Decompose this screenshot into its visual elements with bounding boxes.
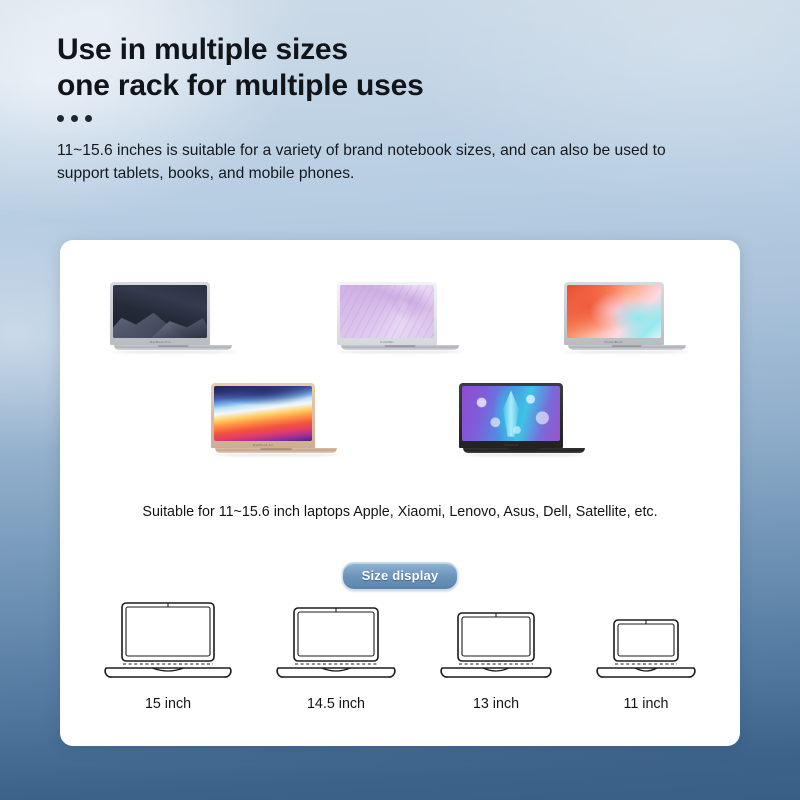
laptop-lid: ThinkPad	[459, 383, 563, 448]
laptop-huawei-matebook-white: HUAWEI	[337, 282, 463, 353]
laptop-redmi-book-silver: RedmiBook	[564, 282, 690, 353]
size-item: 13 inch	[438, 610, 554, 712]
laptop-lid: HUAWEI	[337, 282, 437, 345]
laptop-outline-icon	[438, 610, 554, 684]
size-label: 13 inch	[473, 696, 519, 712]
size-label: 15 inch	[145, 696, 191, 712]
product-card: MacBook ProHUAWEIRedmiBook MacBook AirTh…	[60, 240, 740, 746]
laptop-outline-icon	[274, 605, 398, 684]
laptop-outline-icon	[102, 600, 234, 684]
laptop-lid: MacBook Air	[211, 383, 315, 448]
size-label: 11 inch	[623, 696, 668, 712]
page-title-line-2: one rack for multiple uses	[57, 68, 747, 104]
laptop-macbook-pro-space-grey: MacBook Pro	[110, 282, 236, 353]
size-display-badge-wrap: Size display	[60, 562, 740, 590]
size-display-badge[interactable]: Size display	[342, 562, 459, 590]
size-item: 14.5 inch	[274, 605, 398, 712]
compatibility-caption: Suitable for 11~15.6 inch laptops Apple,…	[60, 504, 740, 520]
laptop-screen	[113, 285, 207, 338]
laptop-brand-mark: ThinkPad	[459, 443, 563, 447]
laptop-lid: RedmiBook	[564, 282, 664, 345]
laptop-brand-mark: MacBook Air	[211, 443, 315, 447]
laptop-lid: MacBook Pro	[110, 282, 210, 345]
laptop-brand-mark: HUAWEI	[337, 340, 437, 344]
size-item: 11 inch	[594, 617, 698, 712]
laptop-screen	[462, 386, 560, 441]
laptop-row-bottom: MacBook AirThinkPad	[60, 383, 740, 456]
laptop-screen	[340, 285, 434, 338]
laptop-brand-mark: MacBook Pro	[110, 340, 210, 344]
laptop-screen	[567, 285, 661, 338]
laptop-shadow	[564, 351, 690, 353]
laptop-base	[463, 448, 585, 453]
size-icon-row: 15 inch14.5 inch13 inch11 inch	[82, 600, 718, 712]
laptop-brand-mark: RedmiBook	[564, 340, 664, 344]
dot-icon	[71, 115, 78, 122]
laptop-base	[215, 448, 337, 453]
page-title-line-1: Use in multiple sizes	[57, 32, 747, 68]
size-item: 15 inch	[102, 600, 234, 712]
laptop-outline-icon	[594, 617, 698, 684]
dot-icon	[85, 115, 92, 122]
laptop-shadow	[459, 454, 589, 456]
size-label: 14.5 inch	[307, 696, 365, 712]
laptop-thinkpad-x1-black: ThinkPad	[459, 383, 589, 456]
laptop-shadow	[337, 351, 463, 353]
laptop-base	[568, 345, 686, 350]
intro-paragraph: 11~15.6 inches is suitable for a variety…	[57, 139, 709, 185]
laptop-base	[114, 345, 232, 350]
laptop-shadow	[110, 351, 236, 353]
laptop-base	[341, 345, 459, 350]
header: Use in multiple sizes one rack for multi…	[57, 32, 747, 185]
laptop-shadow	[211, 454, 341, 456]
laptop-macbook-air-gold: MacBook Air	[211, 383, 341, 456]
dot-icon	[57, 115, 64, 122]
laptop-row-top: MacBook ProHUAWEIRedmiBook	[60, 282, 740, 353]
ellipsis-decoration	[57, 115, 747, 122]
laptop-screen	[214, 386, 312, 441]
